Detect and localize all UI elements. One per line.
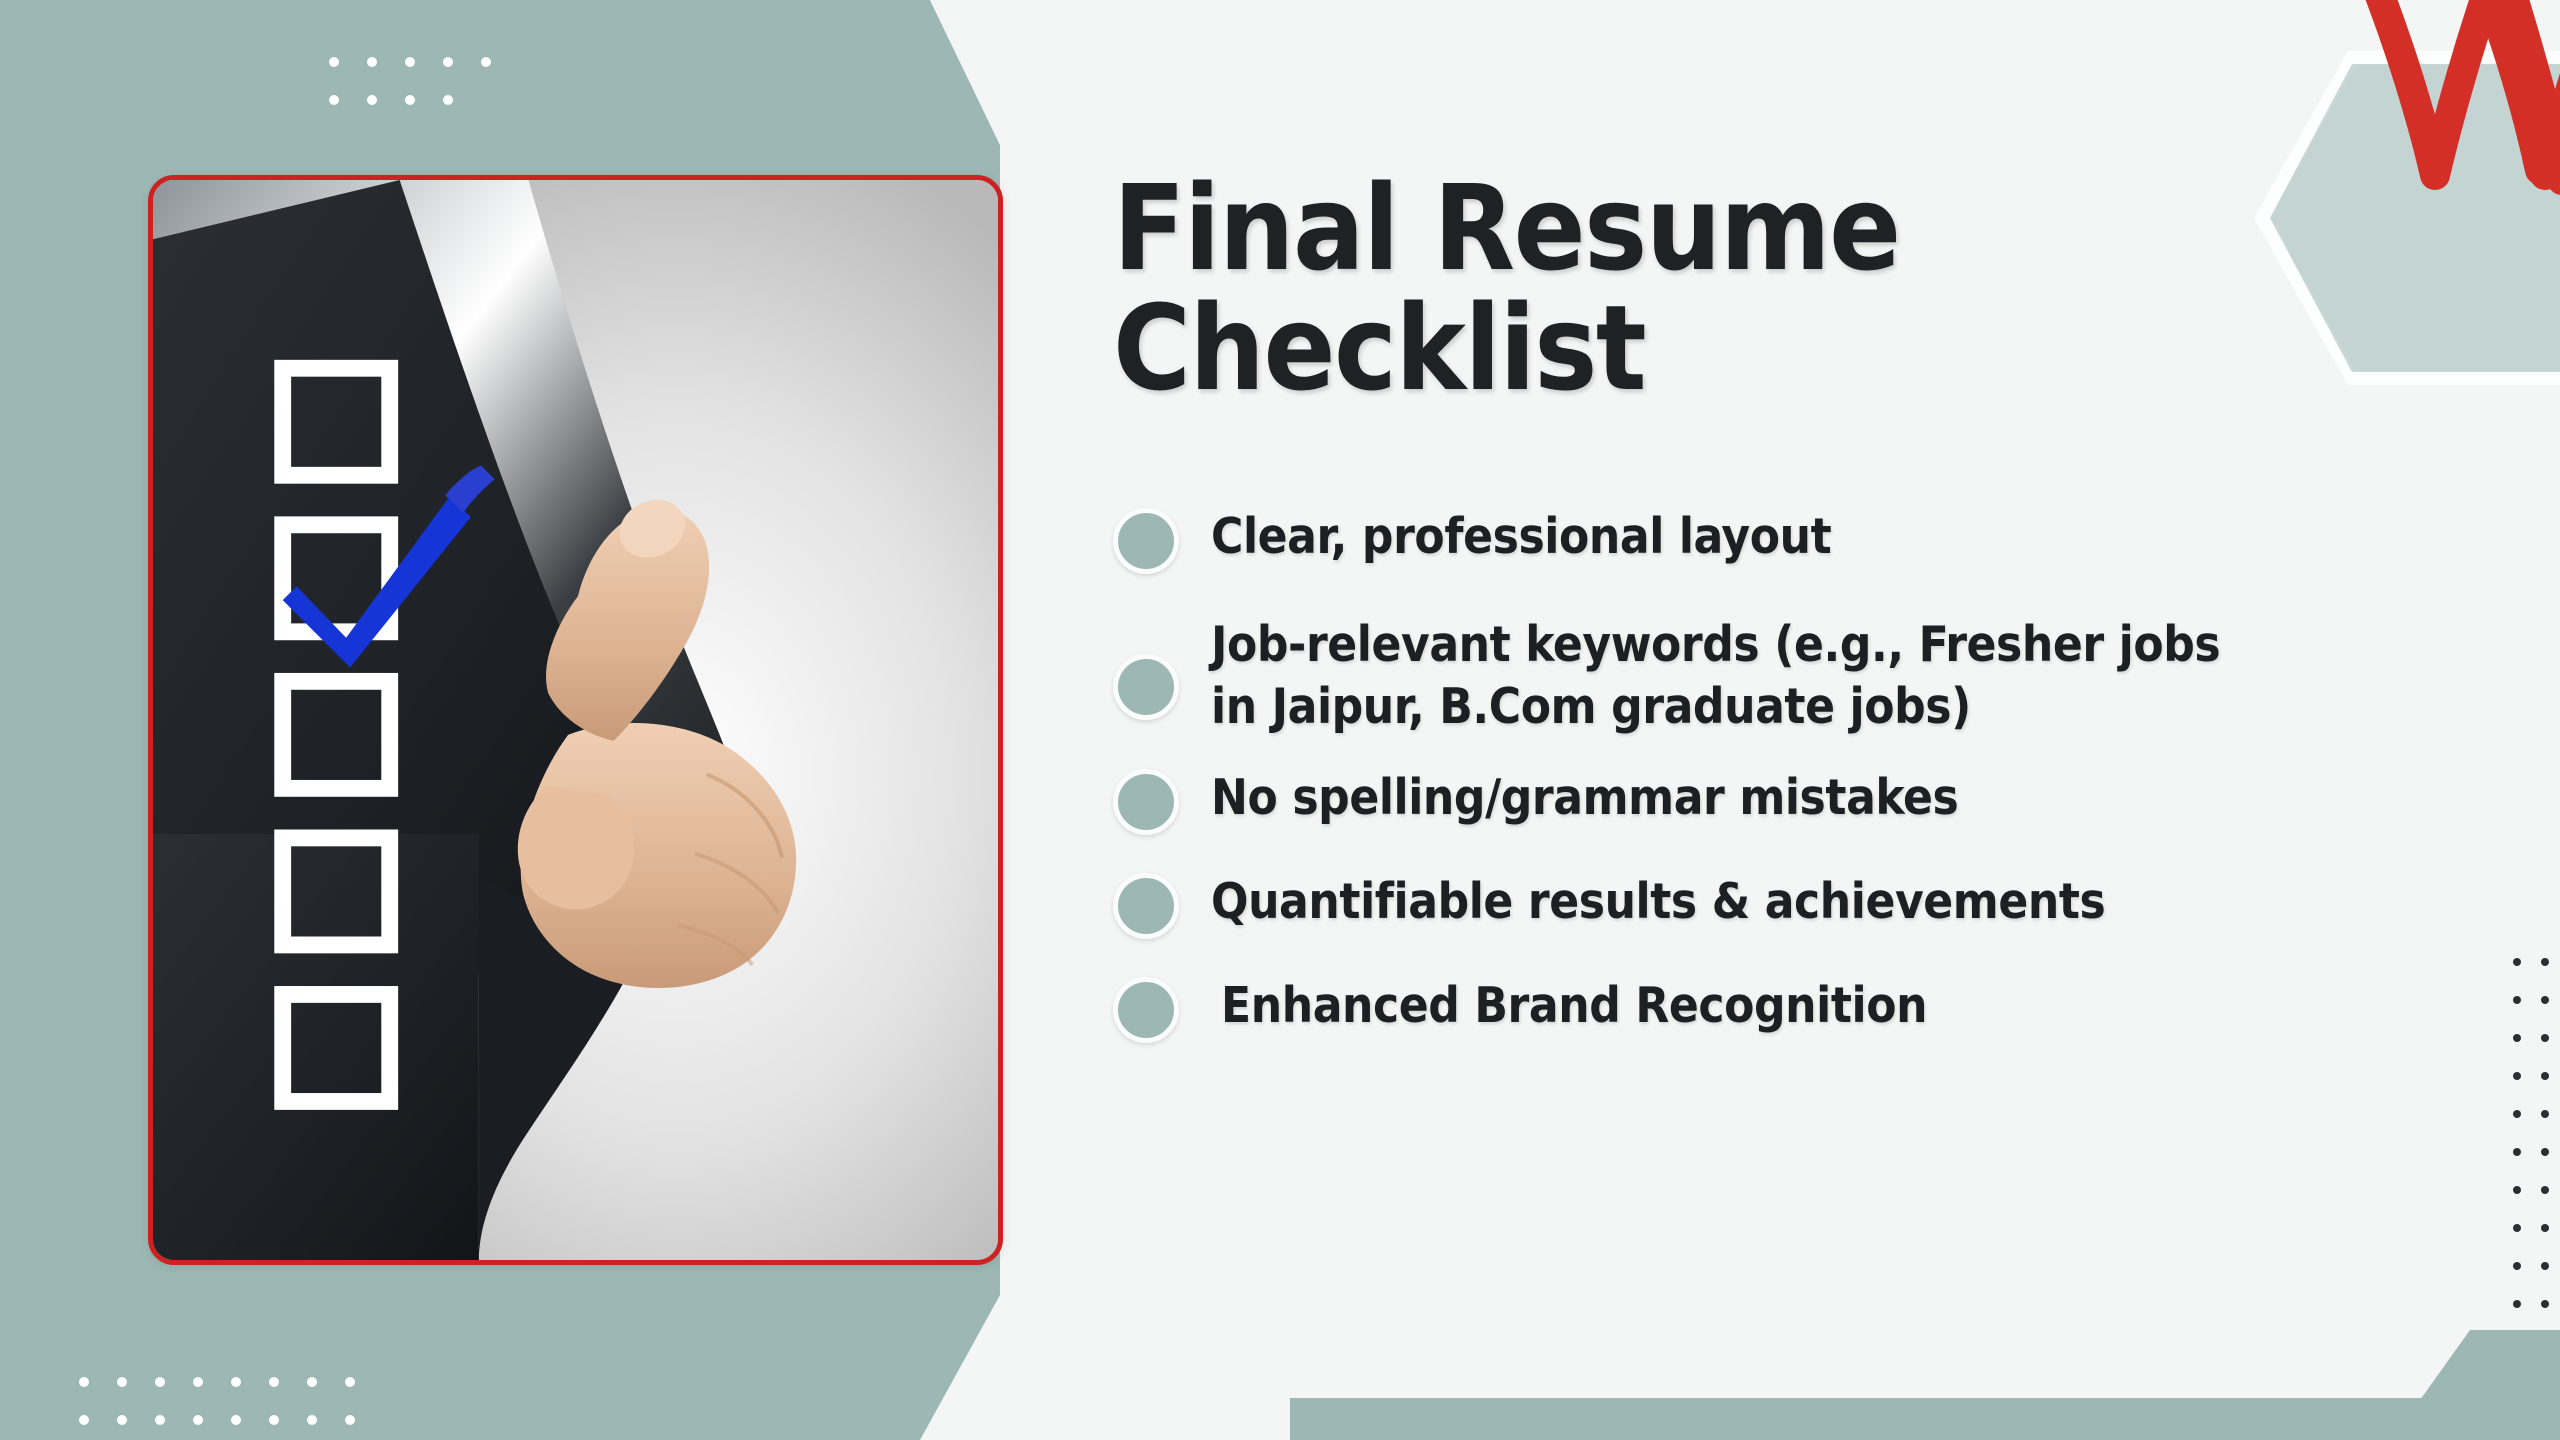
list-item-label: Clear, professional layout: [1211, 504, 1831, 569]
list-item[interactable]: Enhanced Brand Recognition: [1113, 973, 2393, 1043]
checklist-items: Clear, professional layout Job-relevant …: [1113, 504, 2393, 1043]
list-item-label: Job-relevant keywords (e.g., Fresher job…: [1211, 612, 2220, 739]
dot-grid-bottom-left: [72, 1370, 402, 1440]
bullet-dot-icon: [1113, 508, 1179, 574]
list-item-label: Quantifiable results & achievements: [1211, 869, 2105, 934]
list-item-label: Enhanced Brand Recognition: [1221, 973, 1927, 1038]
list-item[interactable]: No spelling/grammar mistakes: [1113, 765, 2393, 835]
page-title: Final Resume Checklist: [1113, 168, 2393, 409]
slide-content: Final Resume Checklist Clear, profession…: [1113, 168, 2393, 1043]
checklist-photo-card: [148, 175, 1003, 1265]
list-item-label: No spelling/grammar mistakes: [1211, 765, 1958, 830]
bullet-dot-icon: [1113, 977, 1179, 1043]
bullet-dot-icon: [1113, 873, 1179, 939]
bullet-dot-icon: [1113, 769, 1179, 835]
dot-grid-right: [2505, 950, 2560, 1350]
dot-grid-top-left: [322, 48, 622, 148]
slide-canvas: Final Resume Checklist Clear, profession…: [0, 0, 2560, 1440]
hand-checkbox-photo: [153, 180, 998, 1260]
list-item[interactable]: Clear, professional layout: [1113, 504, 2393, 574]
bullet-dot-icon: [1113, 654, 1179, 720]
list-item[interactable]: Job-relevant keywords (e.g., Fresher job…: [1113, 612, 2393, 739]
list-item[interactable]: Quantifiable results & achievements: [1113, 869, 2393, 939]
